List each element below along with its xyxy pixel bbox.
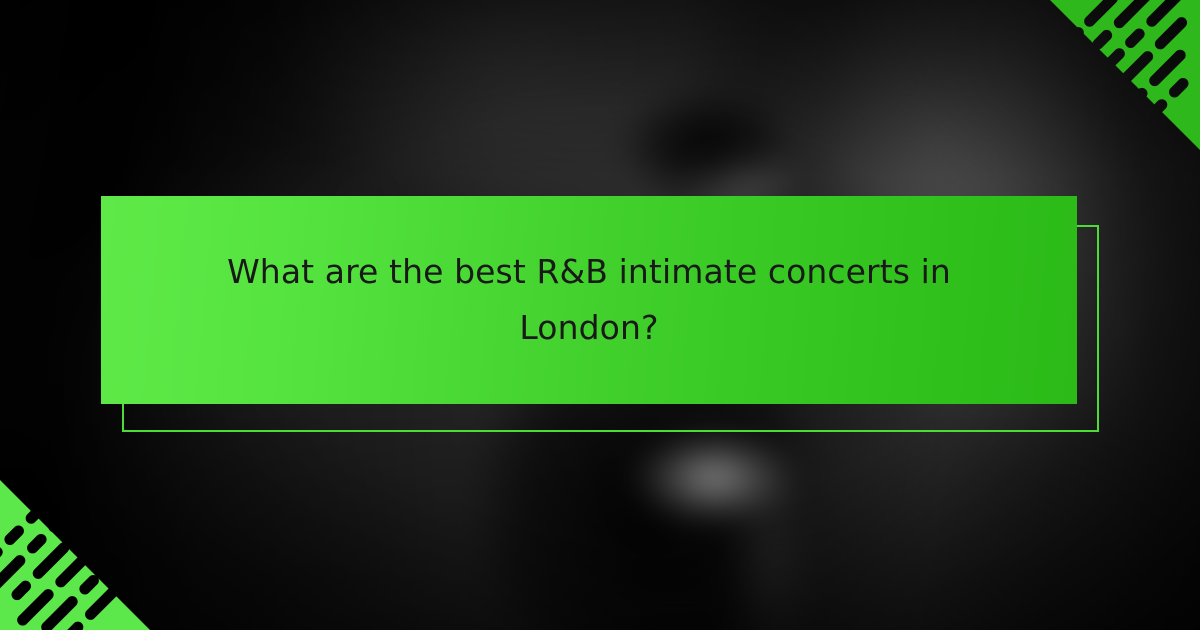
headline-banner: What are the best R&B intimate concerts …: [101, 196, 1077, 404]
corner-decoration-top-right: [1050, 0, 1200, 150]
share-card: What are the best R&B intimate concerts …: [0, 0, 1200, 630]
corner-decoration-bottom-left: [0, 480, 150, 630]
page-title: What are the best R&B intimate concerts …: [219, 244, 959, 356]
